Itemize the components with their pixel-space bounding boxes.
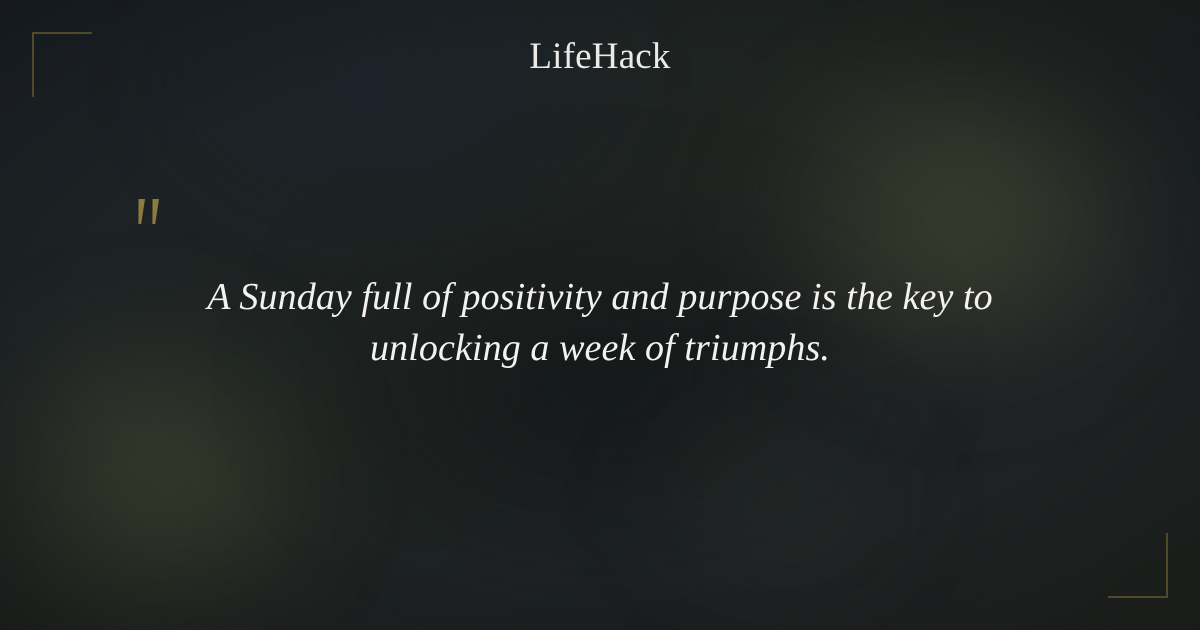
corner-bracket-vertical-bar: [1166, 533, 1168, 598]
corner-bracket-horizontal-bar: [1108, 596, 1168, 598]
quote-text: A Sunday full of positivity and purpose …: [130, 272, 1070, 374]
quote-card: LifeHack A Sunday full of positivity and…: [0, 0, 1200, 630]
quotation-mark-icon: [131, 197, 175, 241]
brand-logo: LifeHack: [0, 38, 1200, 75]
corner-bracket-horizontal-bar: [32, 32, 92, 34]
corner-bracket-bottom-right-icon: [1108, 533, 1168, 598]
quote-container: A Sunday full of positivity and purpose …: [130, 272, 1070, 374]
